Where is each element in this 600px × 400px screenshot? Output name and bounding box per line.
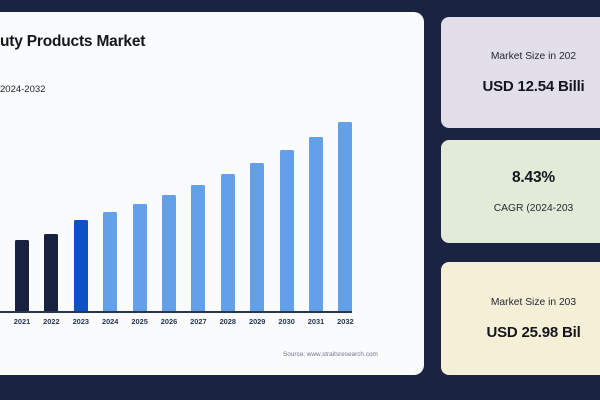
bar-2021 [15,240,29,312]
bar-2025 [133,204,147,312]
stat-card-market-size-forecast: Market Size in 203 USD 25.98 Bil [441,262,600,375]
bar-2022 [44,234,58,312]
bar-2027 [191,185,205,312]
stat-card-value: USD 25.98 Bil [441,324,600,341]
bar-2028 [221,174,235,312]
bar-2029 [250,163,264,312]
x-axis-tick-2032: 2032 [328,317,362,326]
bar-2026 [162,195,176,312]
stat-card-market-size-base: Market Size in 202 USD 12.54 Billi [441,17,600,128]
bar-2031 [309,137,323,312]
chart-panel: uty Products Market 2024-2032 Source: ww… [0,12,424,375]
bar-chart-plot-area [0,107,420,312]
source-note: Source: www.straitsresearch.com [283,351,378,358]
chart-subtitle: 2024-2032 [0,84,45,95]
bar-2024 [103,212,117,312]
page-title: uty Products Market [0,33,145,51]
bar-2032 [338,122,352,312]
bar-2030 [280,150,294,312]
x-axis-line [0,311,352,313]
bar-2023 [74,220,88,312]
stat-card-value: USD 12.54 Billi [441,78,600,95]
stat-card-label: Market Size in 203 [441,297,600,308]
stat-card-label: CAGR (2024-203 [441,203,600,214]
stat-card-value: 8.43% [441,169,600,187]
stat-card-label: Market Size in 202 [441,51,600,62]
stat-card-cagr: 8.43% CAGR (2024-203 [441,140,600,243]
